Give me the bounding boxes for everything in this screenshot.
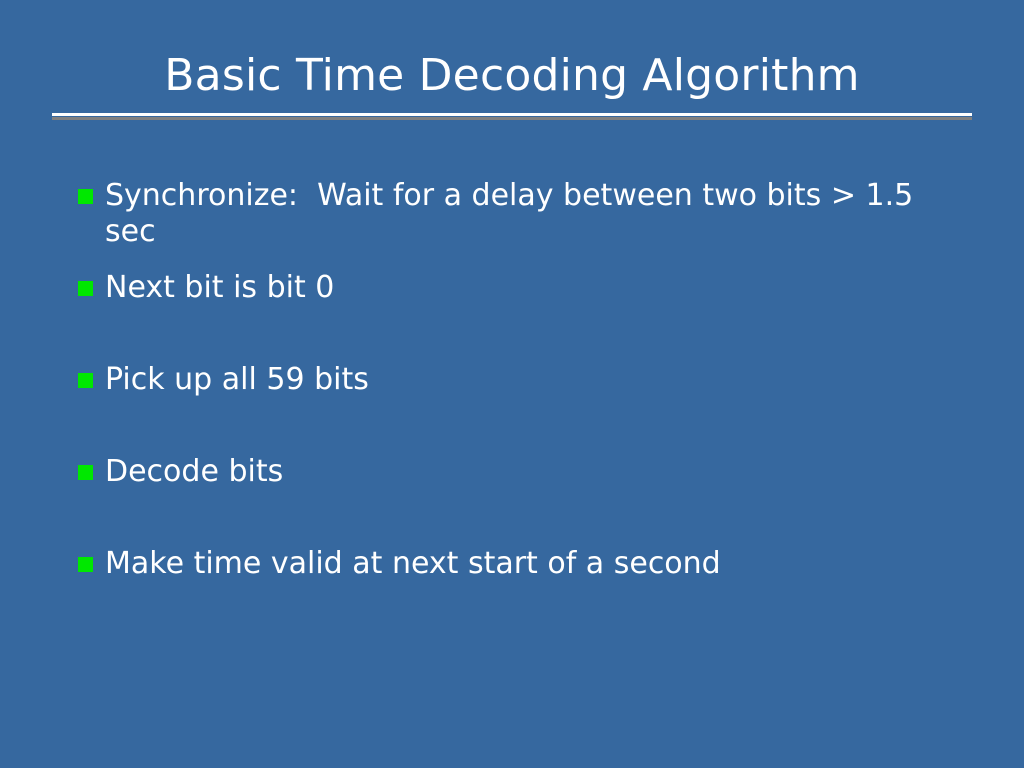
list-item: Synchronize: Wait for a delay between tw…	[78, 178, 958, 250]
list-item: Decode bits	[78, 454, 958, 490]
title-block: Basic Time Decoding Algorithm	[0, 48, 1024, 120]
green-square-bullet-icon	[78, 189, 93, 204]
divider-shadow-line	[52, 117, 972, 120]
title-divider-rule	[52, 113, 972, 120]
presentation-slide: Basic Time Decoding Algorithm Synchroniz…	[0, 0, 1024, 768]
green-square-bullet-icon	[78, 373, 93, 388]
list-item: Pick up all 59 bits	[78, 362, 958, 398]
list-item-label: Pick up all 59 bits	[105, 362, 958, 398]
green-square-bullet-icon	[78, 281, 93, 296]
green-square-bullet-icon	[78, 465, 93, 480]
list-item-label: Make time valid at next start of a secon…	[105, 546, 958, 582]
list-item: Make time valid at next start of a secon…	[78, 546, 958, 582]
list-item-label: Next bit is bit 0	[105, 270, 958, 306]
page-title: Basic Time Decoding Algorithm	[0, 48, 1024, 104]
green-square-bullet-icon	[78, 557, 93, 572]
list-item-label: Synchronize: Wait for a delay between tw…	[105, 178, 958, 250]
list-item-label: Decode bits	[105, 454, 958, 490]
bullet-list: Synchronize: Wait for a delay between tw…	[78, 178, 958, 582]
list-item: Next bit is bit 0	[78, 270, 958, 306]
divider-highlight-line	[52, 113, 972, 116]
